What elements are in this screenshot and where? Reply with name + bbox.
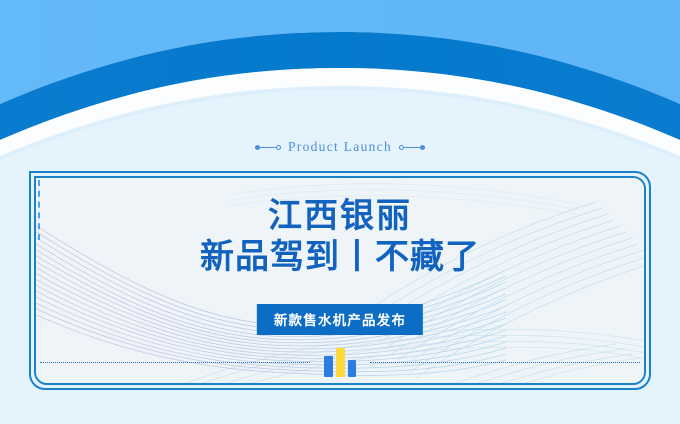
dotted-rule-right bbox=[370, 362, 640, 363]
logo-bar-3 bbox=[348, 360, 356, 377]
three-bar-logo-icon bbox=[324, 347, 356, 377]
poster-canvas: Product Launch bbox=[0, 0, 680, 424]
logo-bar-1 bbox=[324, 356, 333, 377]
logo-bar-2 bbox=[336, 348, 345, 377]
frame-dash-accent bbox=[38, 180, 40, 240]
bottom-divider-row bbox=[40, 346, 640, 378]
subtitle-badge: 新款售水机产品发布 bbox=[257, 304, 423, 335]
dotted-rule-left bbox=[40, 362, 310, 363]
